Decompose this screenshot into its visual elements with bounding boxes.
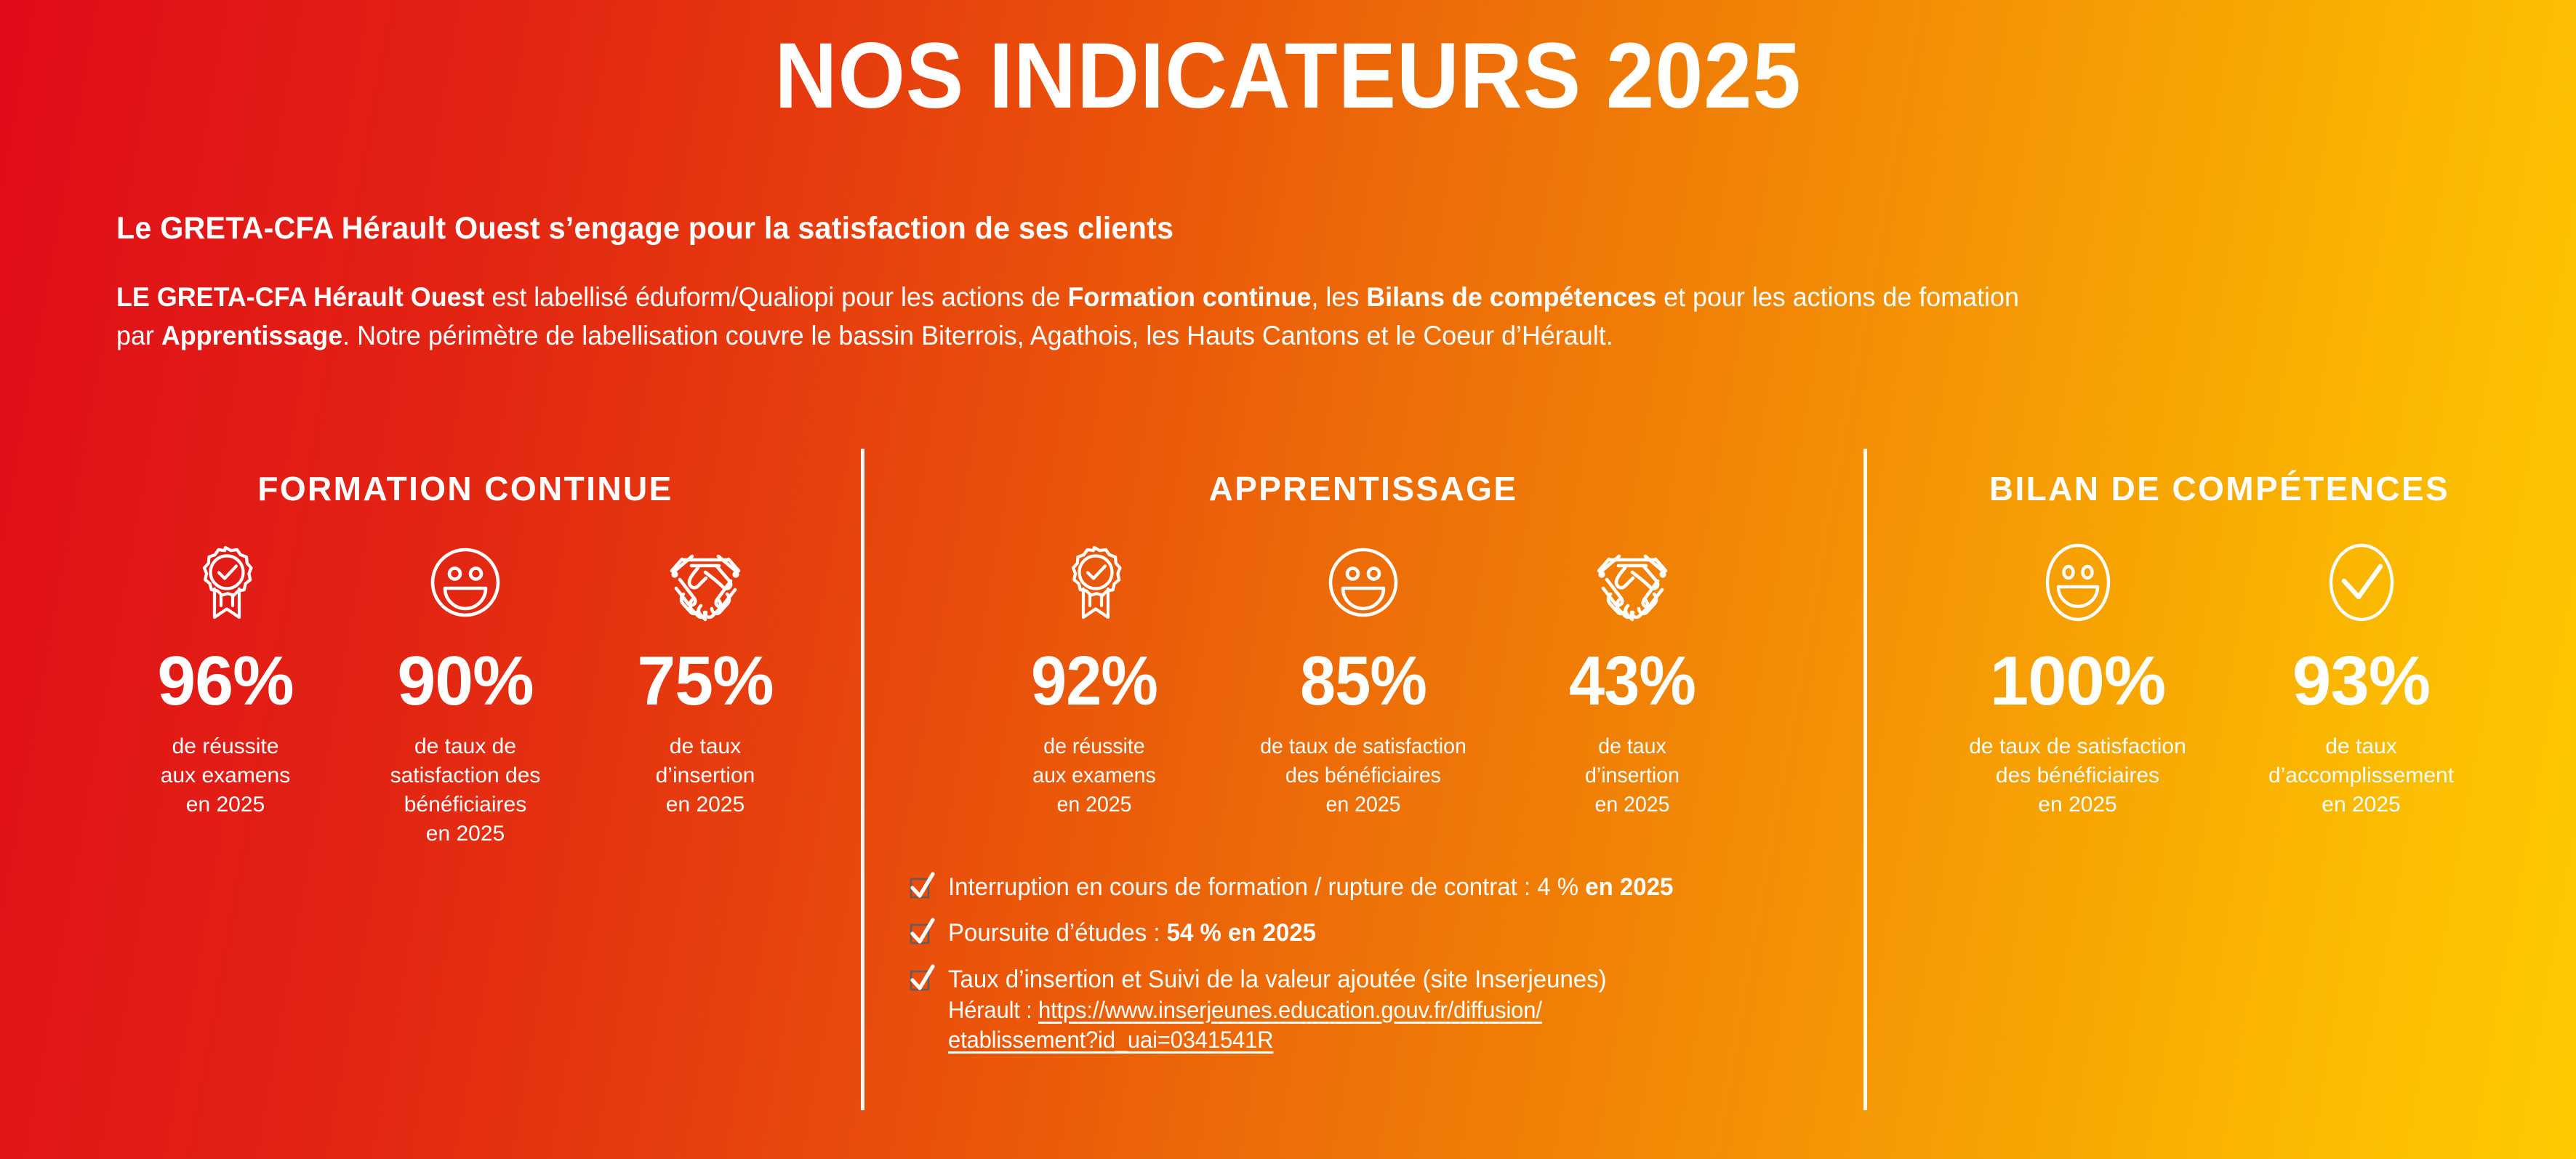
intro-text: . Notre périmètre de labellisation couvr… <box>342 321 1613 350</box>
intro-block: Le GRETA-CFA Hérault Ouest s’engage pour… <box>116 211 2152 355</box>
note-emphasis: 54 % en 2025 <box>1167 919 1316 947</box>
handshake-icon <box>585 542 825 623</box>
column-divider-1 <box>861 449 864 1110</box>
award-ribbon-check-icon <box>105 542 345 623</box>
stats-row-bilan-de-competences: 100% de taux de satisfactiondes bénéfici… <box>1876 542 2563 819</box>
stat-card: 85% de taux de satisfactiondes bénéficia… <box>1229 542 1498 819</box>
stat-card: 100% de taux de satisfactiondes bénéfici… <box>1936 542 2220 819</box>
note-emphasis: en 2025 <box>1585 873 1673 901</box>
stat-label-line: en 2025 <box>588 790 822 819</box>
inserjeunes-link[interactable]: etablissement?id_uai=0341541R <box>948 1027 1273 1053</box>
stat-card: 96% de réussiteaux examensen 2025 <box>105 542 345 819</box>
stat-value: 90% <box>347 646 585 716</box>
stat-card: 93% de tauxd’accomplissementen 2025 <box>2220 542 2503 819</box>
stat-label-line: en 2025 <box>108 790 342 819</box>
stat-value: 43% <box>1509 646 1756 716</box>
stat-label-line: aux examens <box>969 761 1219 790</box>
column-heading-bilan-de-competences: BILAN DE COMPÉTENCES <box>1876 469 2563 508</box>
apprentissage-notes-list: Interruption en cours de formation / rup… <box>907 870 1854 1055</box>
stat-card: 75% de tauxd’insertionen 2025 <box>585 542 825 819</box>
stat-label-line: de taux de <box>348 732 582 761</box>
column-divider-2 <box>1863 449 1867 1110</box>
stat-label: de tauxd’accomplissementen 2025 <box>2220 732 2503 819</box>
award-ribbon-check-icon <box>960 542 1229 623</box>
stat-value: 92% <box>971 646 1218 716</box>
list-item: Poursuite d’études : 54 % en 2025 <box>907 916 1854 950</box>
stat-label-line: de taux <box>1507 732 1757 761</box>
smiley-face-icon <box>345 542 585 623</box>
column-heading-formation-continue: FORMATION CONTINUE <box>87 469 843 508</box>
stat-card: 92% de réussiteaux examensen 2025 <box>960 542 1229 819</box>
note-text: Hérault : <box>948 997 1038 1023</box>
stat-label-line: en 2025 <box>2223 790 2500 819</box>
columns-area: FORMATION CONTINUE 96% de <box>0 447 2576 1123</box>
stat-label-line: d’insertion <box>1507 761 1757 790</box>
stat-label-line: de réussite <box>108 732 342 761</box>
check-box-icon <box>907 963 948 995</box>
stat-label-line: en 2025 <box>1939 790 2217 819</box>
stat-card: 90% de taux desatisfaction desbénéficiai… <box>345 542 585 849</box>
stat-label-line: de taux de satisfaction <box>1939 732 2217 761</box>
intro-emphasis: Apprentissage <box>161 321 342 350</box>
list-item-text: Interruption en cours de formation / rup… <box>948 870 1827 904</box>
stat-label: de tauxd’insertionen 2025 <box>1504 732 1760 819</box>
list-item: Taux d’insertion et Suivi de la valeur a… <box>907 963 1854 1055</box>
stat-value: 85% <box>1240 646 1487 716</box>
stat-label-line: aux examens <box>108 761 342 790</box>
stat-value: 100% <box>1936 646 2220 716</box>
stat-label-line: en 2025 <box>1507 790 1757 819</box>
intro-emphasis: Formation continue <box>1067 282 1311 312</box>
inserjeunes-link[interactable]: https://www.inserjeunes.education.gouv.f… <box>1038 997 1542 1023</box>
stat-label-line: en 2025 <box>1238 790 1488 819</box>
note-text: Taux d’insertion et Suivi de la valeur a… <box>948 966 1607 993</box>
smiley-face-oval-icon <box>1936 542 2220 623</box>
stat-label: de taux de satisfactiondes bénéficiaires… <box>1936 732 2220 819</box>
stat-label-line: en 2025 <box>348 819 582 849</box>
stat-label: de taux desatisfaction desbénéficiairese… <box>345 732 585 849</box>
note-text: Poursuite d’études : <box>948 919 1167 947</box>
stat-label: de tauxd’insertionen 2025 <box>585 732 825 819</box>
handshake-icon <box>1498 542 1767 623</box>
intro-text: , les <box>1311 282 1366 312</box>
stat-label-line: de réussite <box>969 732 1219 761</box>
stat-label: de taux de satisfactiondes bénéficiaires… <box>1235 732 1491 819</box>
smiley-face-icon <box>1229 542 1498 623</box>
check-oval-icon <box>2220 542 2503 623</box>
intro-text: est labellisé éduform/Qualiopi pour les … <box>484 282 1067 312</box>
check-box-icon <box>907 916 948 948</box>
indicators-infographic: NOS INDICATEURS 2025 Le GRETA-CFA Héraul… <box>0 0 2576 1159</box>
stat-label: de réussiteaux examensen 2025 <box>966 732 1222 819</box>
stat-label: de réussiteaux examensen 2025 <box>105 732 345 819</box>
column-bilan-de-competences: BILAN DE COMPÉTENCES 100% de taux de sat… <box>1876 447 2563 819</box>
stat-label-line: bénéficiaires <box>348 790 582 819</box>
intro-emphasis: Bilans de compétences <box>1366 282 1656 312</box>
stat-value: 96% <box>107 646 345 716</box>
stat-label-line: des bénéficiaires <box>1238 761 1488 790</box>
column-apprentissage: APPRENTISSAGE 92% de réus <box>872 447 1854 1068</box>
check-box-icon <box>907 870 948 902</box>
stat-label-line: d’insertion <box>588 761 822 790</box>
stat-label-line: en 2025 <box>969 790 1219 819</box>
stats-row-formation-continue: 96% de réussiteaux examensen 2025 90% de… <box>87 542 843 849</box>
stat-value: 75% <box>587 646 824 716</box>
note-link-line: etablissement?id_uai=0341541R <box>948 1025 1827 1055</box>
stat-card: 43% de tauxd’insertionen 2025 <box>1498 542 1767 819</box>
note-link-line: Hérault : https://www.inserjeunes.educat… <box>948 995 1827 1025</box>
stat-value: 93% <box>2220 646 2503 716</box>
list-item-text: Taux d’insertion et Suivi de la valeur a… <box>948 963 1827 1055</box>
stat-label-line: satisfaction des <box>348 761 582 790</box>
list-item: Interruption en cours de formation / rup… <box>907 870 1854 904</box>
intro-paragraph: LE GRETA-CFA Hérault Ouest est labellisé… <box>116 278 2063 355</box>
column-heading-apprentissage: APPRENTISSAGE <box>872 469 1854 508</box>
intro-headline: Le GRETA-CFA Hérault Ouest s’engage pour… <box>116 211 2071 246</box>
stat-label-line: de taux de satisfaction <box>1238 732 1488 761</box>
note-text: Interruption en cours de formation / rup… <box>948 873 1585 901</box>
column-formation-continue: FORMATION CONTINUE 96% de <box>87 447 843 849</box>
stats-row-apprentissage: 92% de réussiteaux examensen 2025 85% de… <box>872 542 1854 819</box>
stat-label-line: des bénéficiaires <box>1939 761 2217 790</box>
stat-label-line: d’accomplissement <box>2223 761 2500 790</box>
stat-label-line: de taux <box>2223 732 2500 761</box>
intro-emphasis: LE GRETA-CFA Hérault Ouest <box>116 282 484 312</box>
list-item-text: Poursuite d’études : 54 % en 2025 <box>948 916 1827 950</box>
stat-label-line: de taux <box>588 732 822 761</box>
page-title: NOS INDICATEURS 2025 <box>90 28 2486 125</box>
